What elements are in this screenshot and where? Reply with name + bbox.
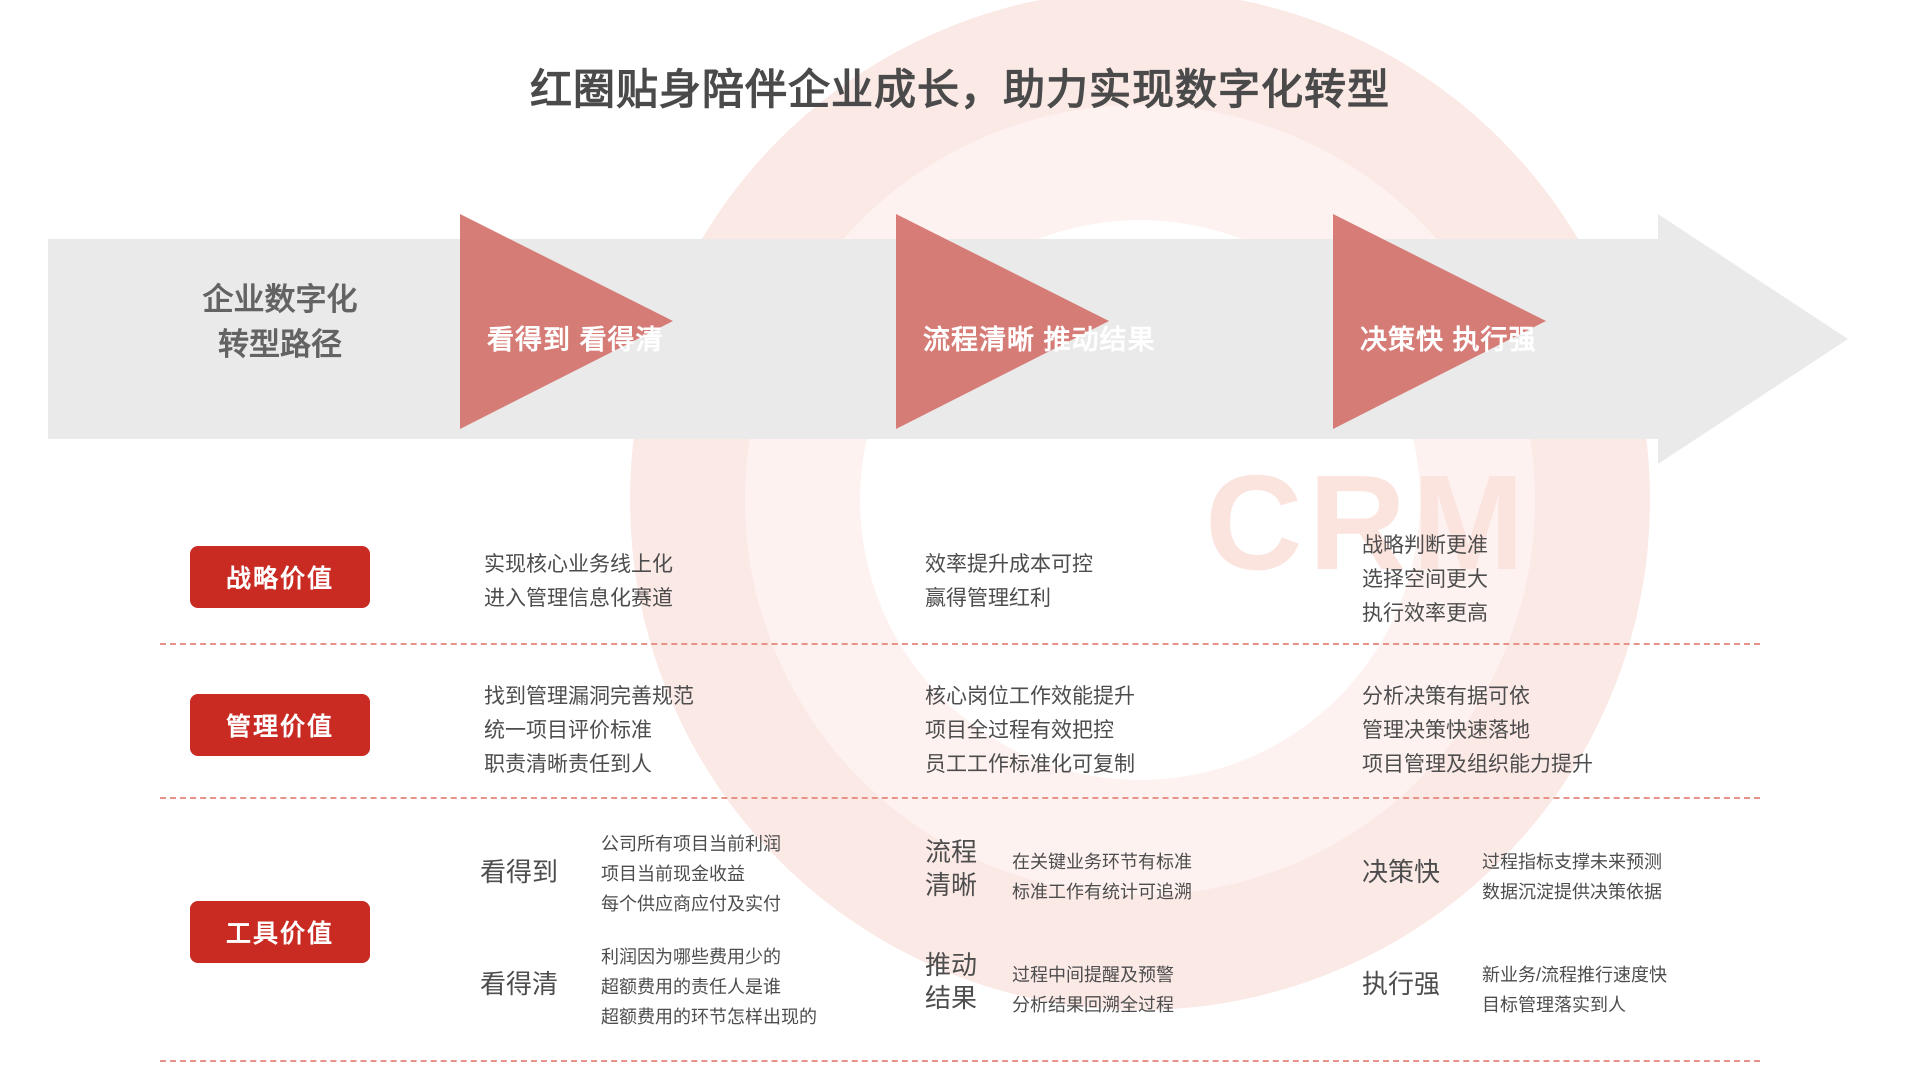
- text-line: 赢得管理红利: [925, 582, 1093, 616]
- text-line: 战略判断更准: [1362, 529, 1488, 563]
- text-line: 看得清: [480, 968, 558, 1001]
- text-line: 项目当前现金收益: [601, 860, 781, 890]
- text-line: 结果: [925, 982, 977, 1015]
- text-line: 选择空间更大: [1362, 563, 1488, 597]
- row-divider-1: [160, 643, 1760, 645]
- strategic-value-column-3: 战略判断更准 选择空间更大 执行效率更高: [1362, 529, 1488, 631]
- tool-desc-kandeqing: 利润因为哪些费用少的 超额费用的责任人是谁 超额费用的环节怎样出现的: [601, 943, 817, 1033]
- text-line: 在关键业务环节有标准: [1012, 848, 1192, 878]
- text-line: 每个供应商应付及实付: [601, 890, 781, 920]
- text-line: 过程中间提醒及预警: [1012, 961, 1174, 991]
- tool-desc-kandedao: 公司所有项目当前利润 项目当前现金收益 每个供应商应付及实付: [601, 830, 781, 920]
- text-line: 分析结果回溯全过程: [1012, 991, 1174, 1021]
- tool-key-kandedao: 看得到: [480, 856, 558, 889]
- text-line: 清晰: [925, 869, 977, 902]
- tool-desc-zhixingqiang: 新业务/流程推行速度快 目标管理落实到人: [1482, 961, 1667, 1021]
- text-line: 执行效率更高: [1362, 597, 1488, 631]
- tool-desc-tuidongjieguo: 过程中间提醒及预警 分析结果回溯全过程: [1012, 961, 1174, 1021]
- transformation-path-label: 企业数字化 转型路径: [150, 278, 410, 368]
- tool-key-kandeqing: 看得清: [480, 968, 558, 1001]
- text-line: 流程: [925, 836, 977, 869]
- row-badge-management-value: 管理价值: [190, 694, 370, 756]
- stage-label-3: 决策快 执行强: [1360, 318, 1537, 357]
- text-line: 员工工作标准化可复制: [925, 748, 1135, 782]
- row-divider-2: [160, 797, 1760, 799]
- tool-desc-liuchengqingxi: 在关键业务环节有标准 标准工作有统计可追溯: [1012, 848, 1192, 908]
- text-line: 找到管理漏洞完善规范: [484, 680, 694, 714]
- row-divider-3: [160, 1060, 1760, 1062]
- row-badge-tool-value: 工具价值: [190, 901, 370, 963]
- tool-desc-juecekuai: 过程指标支撑未来预测 数据沉淀提供决策依据: [1482, 848, 1662, 908]
- text-line: 目标管理落实到人: [1482, 991, 1667, 1021]
- text-line: 项目管理及组织能力提升: [1362, 748, 1593, 782]
- tool-key-juecekuai: 决策快: [1362, 856, 1440, 889]
- strategic-value-column-1: 实现核心业务线上化 进入管理信息化赛道: [484, 548, 673, 616]
- tool-key-liuchengqingxi: 流程 清晰: [925, 836, 977, 903]
- text-line: 职责清晰责任到人: [484, 748, 694, 782]
- stage-label-2: 流程清晰 推动结果: [923, 318, 1156, 357]
- tool-key-zhixingqiang: 执行强: [1362, 968, 1440, 1001]
- text-line: 管理决策快速落地: [1362, 714, 1593, 748]
- text-line: 分析决策有据可依: [1362, 680, 1593, 714]
- management-value-column-2: 核心岗位工作效能提升 项目全过程有效把控 员工工作标准化可复制: [925, 680, 1135, 782]
- text-line: 实现核心业务线上化: [484, 548, 673, 582]
- strategic-value-column-2: 效率提升成本可控 赢得管理红利: [925, 548, 1093, 616]
- text-line: 超额费用的责任人是谁: [601, 973, 817, 1003]
- text-line: 利润因为哪些费用少的: [601, 943, 817, 973]
- text-line: 数据沉淀提供决策依据: [1482, 878, 1662, 908]
- page-title: 红圈贴身陪伴企业成长，助力实现数字化转型: [0, 56, 1920, 117]
- tool-key-tuidongjieguo: 推动 结果: [925, 949, 977, 1016]
- stage-label-1: 看得到 看得清: [487, 318, 664, 357]
- text-line: 执行强: [1362, 968, 1440, 1001]
- path-label-line-2: 转型路径: [150, 323, 410, 368]
- management-value-column-1: 找到管理漏洞完善规范 统一项目评价标准 职责清晰责任到人: [484, 680, 694, 782]
- text-line: 进入管理信息化赛道: [484, 582, 673, 616]
- text-line: 项目全过程有效把控: [925, 714, 1135, 748]
- text-line: 决策快: [1362, 856, 1440, 889]
- text-line: 超额费用的环节怎样出现的: [601, 1003, 817, 1033]
- path-label-line-1: 企业数字化: [150, 278, 410, 323]
- value-rows-container: 战略价值 管理价值 工具价值 实现核心业务线上化 进入管理信息化赛道 效率提升成…: [0, 0, 1920, 1080]
- text-line: 看得到: [480, 856, 558, 889]
- text-line: 标准工作有统计可追溯: [1012, 878, 1192, 908]
- management-value-column-3: 分析决策有据可依 管理决策快速落地 项目管理及组织能力提升: [1362, 680, 1593, 782]
- text-line: 统一项目评价标准: [484, 714, 694, 748]
- text-line: 公司所有项目当前利润: [601, 830, 781, 860]
- text-line: 新业务/流程推行速度快: [1482, 961, 1667, 991]
- row-badge-strategic-value: 战略价值: [190, 546, 370, 608]
- text-line: 过程指标支撑未来预测: [1482, 848, 1662, 878]
- text-line: 推动: [925, 949, 977, 982]
- text-line: 效率提升成本可控: [925, 548, 1093, 582]
- text-line: 核心岗位工作效能提升: [925, 680, 1135, 714]
